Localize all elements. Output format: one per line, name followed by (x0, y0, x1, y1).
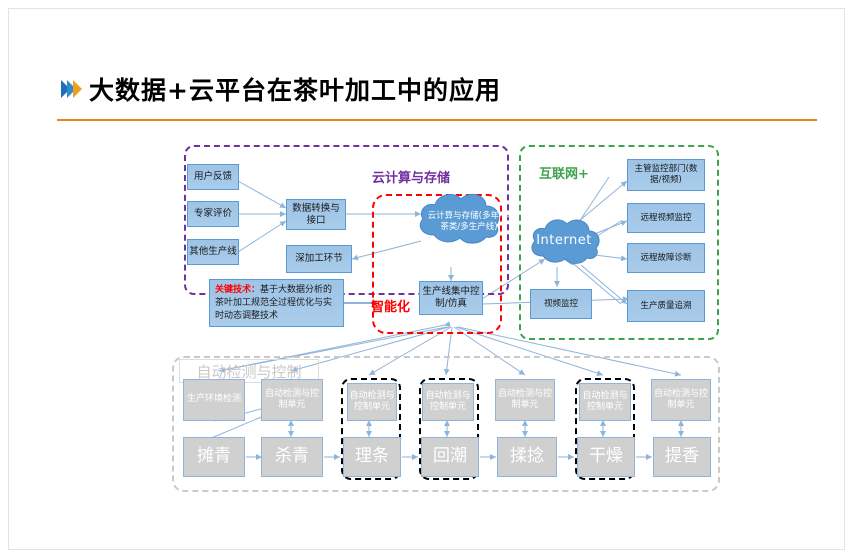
box-control-unit-4-label: 自动检测与控制单元 (496, 389, 554, 412)
box-deep-processing-label: 深加工环节 (295, 253, 343, 265)
box-control-unit-2-label: 自动检测与控制单元 (348, 391, 396, 414)
box-control-unit-5[interactable]: 自动检测与控制单元 (579, 383, 631, 421)
key-technology-box: 关键技术：基于大数据分析的茶叶加工规范全过程优化与实时动态调整技术 (209, 279, 344, 327)
process-step-liaotiao[interactable]: 理条 (343, 437, 401, 477)
region-intelligent-label: 智能化 (371, 296, 410, 315)
process-step-shaqing[interactable]: 杀青 (261, 437, 323, 477)
process-step-rounian-label: 揉捻 (510, 446, 544, 467)
input-box-expert-eval[interactable]: 专家评价 (187, 201, 239, 227)
process-step-rounian[interactable]: 揉捻 (497, 437, 557, 477)
box-control-unit-3-label: 自动检测与控制单元 (423, 391, 473, 414)
key-technology-keyword: 关键技术： (215, 285, 260, 295)
process-step-shaqing-label: 杀青 (275, 446, 309, 467)
box-quality-traceability-label: 生产质量追溯 (640, 301, 691, 312)
box-central-control[interactable]: 生产线集中控制/仿真 (419, 281, 483, 315)
process-step-huichao[interactable]: 回潮 (421, 437, 479, 477)
box-data-interface[interactable]: 数据转换与接口 (286, 199, 346, 230)
box-data-interface-label: 数据转换与接口 (288, 203, 344, 227)
slide-canvas: 大数据+云平台在茶叶加工中的应用 (8, 8, 845, 550)
input-box-user-feedback-label: 用户反馈 (194, 171, 232, 183)
region-internet-label: 互联网+ (539, 163, 589, 182)
input-box-user-feedback[interactable]: 用户反馈 (187, 164, 239, 190)
process-step-tanqing-label: 摊青 (197, 446, 231, 467)
box-quality-traceability[interactable]: 生产质量追溯 (627, 290, 705, 322)
cloud-internet[interactable]: Internet (527, 214, 601, 268)
box-control-unit-2[interactable]: 自动检测与控制单元 (347, 383, 397, 421)
box-supervisor-monitoring-label: 主管监控部门(数据/视频) (629, 164, 703, 185)
box-control-unit-5-label: 自动检测与控制单元 (580, 391, 630, 414)
cloud-compute-storage-label: 云计算与存储(多年/多茶类/多生产线) (414, 187, 524, 257)
diagram-canvas: 云计算与存储 智能化 互联网+ 自动检测与控制 用户反馈 专家评价 其他生产线 … (9, 9, 846, 551)
region-cloud-storage-label: 云计算与存储 (372, 167, 450, 186)
cloud-compute-storage[interactable]: 云计算与存储(多年/多茶类/多生产线) (414, 187, 504, 249)
box-deep-processing[interactable]: 深加工环节 (286, 245, 352, 273)
box-env-detection-label: 生产环境检测 (187, 394, 241, 405)
input-box-expert-eval-label: 专家评价 (194, 208, 232, 220)
box-remote-fault-diagnosis[interactable]: 远程故障诊断 (627, 243, 705, 273)
process-step-liaotiao-label: 理条 (355, 446, 389, 467)
process-step-tixiang[interactable]: 提香 (653, 437, 711, 477)
box-control-unit-1[interactable]: 自动检测与控制单元 (261, 379, 323, 421)
cloud-internet-label: Internet (527, 214, 601, 268)
process-step-ganzao-label: 干燥 (589, 446, 623, 467)
box-env-detection[interactable]: 生产环境检测 (183, 379, 245, 421)
box-remote-video-monitoring[interactable]: 远程视频监控 (627, 203, 705, 233)
process-step-ganzao[interactable]: 干燥 (577, 437, 635, 477)
process-step-tanqing[interactable]: 摊青 (183, 437, 245, 477)
process-step-huichao-label: 回潮 (433, 446, 467, 467)
box-control-unit-3[interactable]: 自动检测与控制单元 (422, 383, 474, 421)
box-remote-fault-diagnosis-label: 远程故障诊断 (640, 253, 691, 264)
input-box-other-lines-label: 其他生产线 (189, 246, 237, 258)
box-control-unit-6[interactable]: 自动检测与控制单元 (651, 379, 711, 421)
box-control-unit-1-label: 自动检测与控制单元 (262, 389, 322, 412)
box-control-unit-6-label: 自动检测与控制单元 (652, 389, 710, 412)
box-supervisor-monitoring[interactable]: 主管监控部门(数据/视频) (627, 159, 705, 191)
box-remote-video-monitoring-label: 远程视频监控 (640, 213, 691, 224)
box-central-control-label: 生产线集中控制/仿真 (421, 286, 481, 310)
box-control-unit-4[interactable]: 自动检测与控制单元 (495, 379, 555, 421)
input-box-other-lines[interactable]: 其他生产线 (187, 239, 239, 265)
process-step-tixiang-label: 提香 (665, 446, 699, 467)
box-video-monitor[interactable]: 视频监控 (530, 289, 592, 319)
box-video-monitor-label: 视频监控 (544, 299, 578, 310)
